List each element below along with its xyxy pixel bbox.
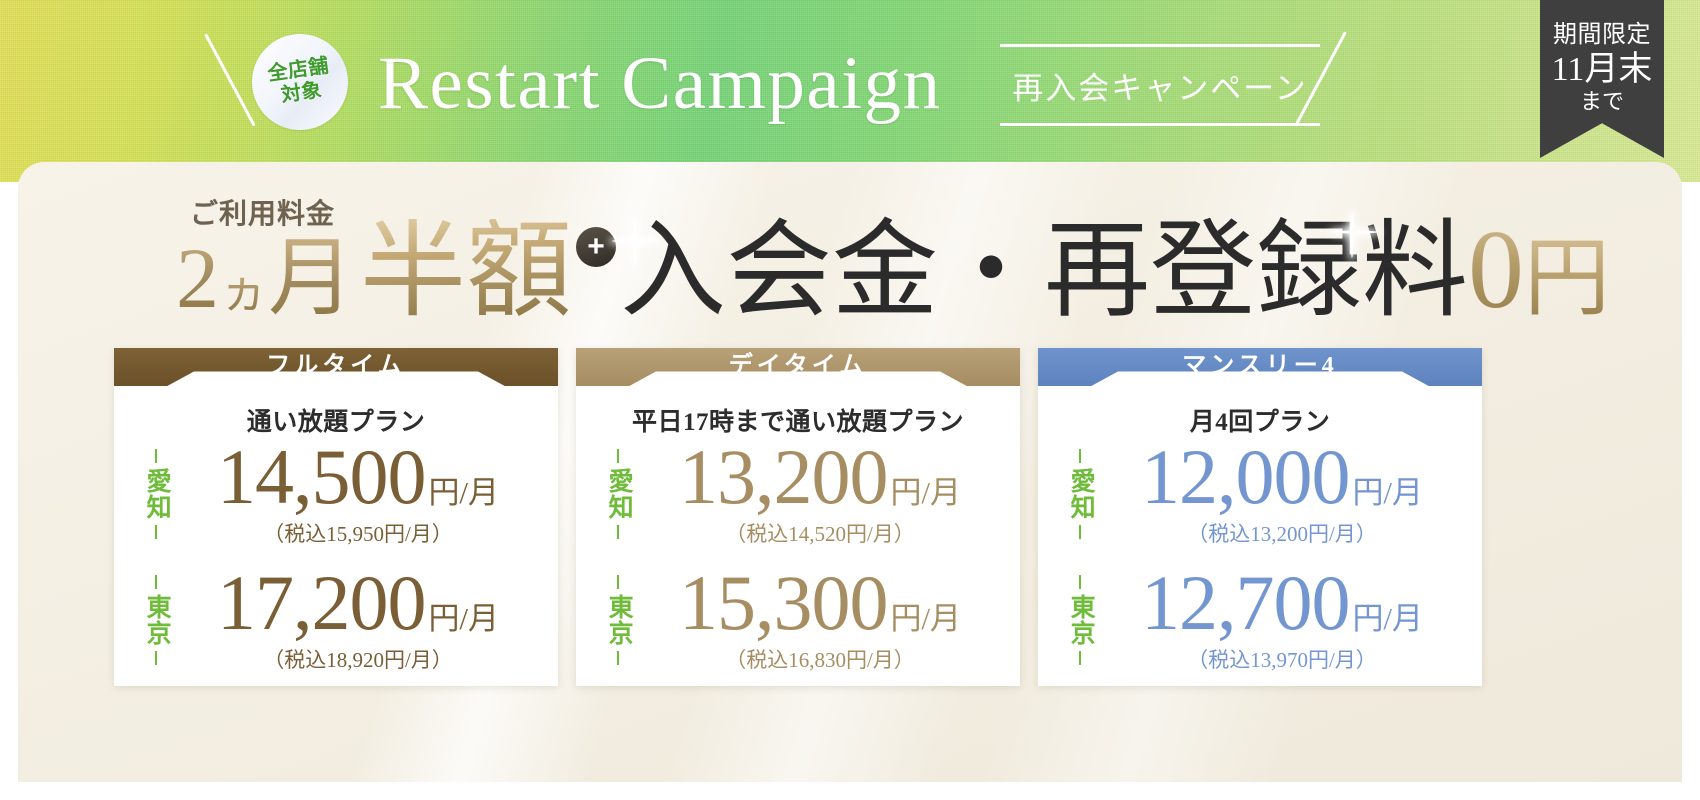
price-main: 17,200 円/月 [114,564,558,642]
ribbon-line3: まで [1580,90,1624,114]
all-stores-badge-line2: 対象 [280,79,324,108]
headline-counter: ヵ [220,268,268,316]
headline-fees: 入会金・再登録料 [620,219,1468,325]
price-amount: 17,200 [217,564,426,642]
price-unit: 円/月 [428,603,499,634]
price-unit: 円/月 [890,477,961,508]
price-tax-note: （税込13,200円/月） [1038,518,1482,548]
campaign-subtitle: 再入会キャンペーン [1000,44,1320,126]
price-amount: 12,000 [1141,438,1350,516]
price-block: 東京 12,700 円/月 （税込13,970円/月） [1038,564,1482,676]
plan-card[interactable]: フルタイム 通い放題プラン 愛知 14,500 円/月 （税込15,950円/月… [114,348,558,686]
price-main: 12,700 円/月 [1038,564,1482,642]
region-bar-bottom [155,651,157,665]
region-bar-bottom [1079,525,1081,539]
region-bar-bottom [617,525,619,539]
headline-zero: 0 [1468,214,1524,326]
price-main: 13,200 円/月 [576,438,1020,516]
plan-card[interactable]: デイタイム 平日17時まで通い放題プラン 愛知 13,200 円/月 （税込14… [576,348,1020,686]
headline: ご利用料金 2 ヵ 月 半額 + 入会金・再登録料 0 円 [18,194,1682,324]
headline-month: 月 [268,235,354,321]
region-label: 東京 [598,568,638,672]
region-bar-top [155,575,157,589]
plan-card-badge: マンスリー4 [1038,348,1482,386]
price-tax-note: （税込18,920円/月） [114,644,558,674]
price-block: 愛知 12,000 円/月 （税込13,200円/月） [1038,438,1482,550]
ribbon-line2: 11月末 [1552,50,1653,89]
price-amount: 12,700 [1141,564,1350,642]
plan-card-badge: フルタイム [114,348,558,386]
region-label: 東京 [136,568,176,672]
plan-card-badge-label: デイタイム [729,345,868,380]
price-unit: 円/月 [890,603,961,634]
offer-panel: ご利用料金 2 ヵ 月 半額 + 入会金・再登録料 0 円 フルタイム 通い放題… [18,162,1682,782]
headline-half-price: 半額 [360,219,572,325]
price-block: 愛知 14,500 円/月 （税込15,950円/月） [114,438,558,550]
plus-icon: + [576,227,616,267]
price-amount: 14,500 [217,438,426,516]
price-tax-note: （税込13,970円/月） [1038,644,1482,674]
banner-header: 全店舗 対象 Restart Campaign 再入会キャンペーン 期間限定 1… [0,0,1700,182]
price-main: 15,300 円/月 [576,564,1020,642]
plan-card[interactable]: マンスリー4 月4回プラン 愛知 12,000 円/月 （税込13,200円/月… [1038,348,1482,686]
price-block: 東京 15,300 円/月 （税込16,830円/月） [576,564,1020,676]
plan-card-badge-label: フルタイム [266,345,406,380]
plan-card-badge: デイタイム [576,348,1020,386]
region-bar-bottom [617,651,619,665]
region-text: 愛知 [605,468,631,520]
region-bar-top [617,449,619,463]
campaign-title: Restart Campaign [378,36,998,132]
price-amount: 15,300 [679,564,888,642]
region-text: 愛知 [143,468,169,520]
price-tax-note: （税込15,950円/月） [114,518,558,548]
region-text: 東京 [605,594,631,646]
region-text: 愛知 [1067,468,1093,520]
price-unit: 円/月 [1352,477,1423,508]
region-label: 愛知 [136,442,176,546]
region-bar-top [617,575,619,589]
region-text: 東京 [143,594,169,646]
region-text: 東京 [1067,594,1093,646]
price-main: 14,500 円/月 [114,438,558,516]
price-tax-note: （税込16,830円/月） [576,644,1020,674]
price-amount: 13,200 [679,438,888,516]
region-bar-top [155,449,157,463]
price-block: 愛知 13,200 円/月 （税込14,520円/月） [576,438,1020,550]
price-block: 東京 17,200 円/月 （税込18,920円/月） [114,564,558,676]
region-label: 東京 [1060,568,1100,672]
headline-row: 2 ヵ 月 半額 + 入会金・再登録料 0 円 [176,214,1610,326]
region-label: 愛知 [1060,442,1100,546]
price-unit: 円/月 [1352,603,1423,634]
region-label: 愛知 [598,442,638,546]
plan-card-list: フルタイム 通い放題プラン 愛知 14,500 円/月 （税込15,950円/月… [114,348,1482,686]
region-bar-top [1079,449,1081,463]
price-unit: 円/月 [428,477,499,508]
price-main: 12,000 円/月 [1038,438,1482,516]
headline-yen: 円 [1524,235,1610,321]
ribbon-line1: 期間限定 [1553,22,1651,48]
region-bar-bottom [1079,651,1081,665]
campaign-banner: 全店舗 対象 Restart Campaign 再入会キャンペーン 期間限定 1… [0,0,1700,800]
region-bar-bottom [155,525,157,539]
region-bar-top [1079,575,1081,589]
headline-number: 2 [176,235,219,321]
price-tax-note: （税込14,520円/月） [576,518,1020,548]
plan-card-badge-label: マンスリー4 [1182,345,1338,380]
